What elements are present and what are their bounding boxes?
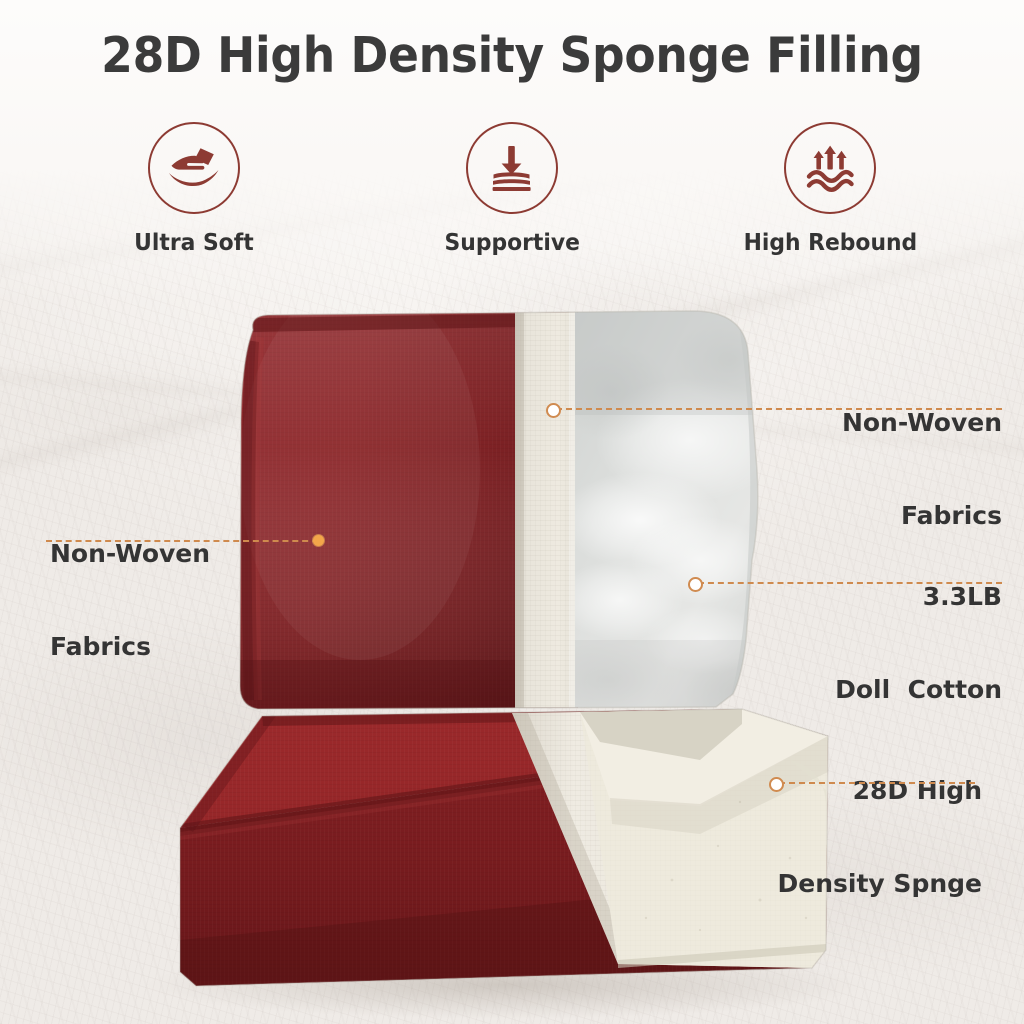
ultra-soft-badge bbox=[148, 122, 240, 214]
annotation-line: 28D High bbox=[652, 775, 982, 806]
annotation-line: Non-Woven bbox=[50, 538, 350, 569]
feature-ultra-soft: Ultra Soft bbox=[99, 122, 289, 267]
feature-high-rebound: High Rebound bbox=[735, 122, 925, 267]
page-title: 28D High Density Sponge Filling bbox=[36, 26, 988, 86]
annotation-line: Doll Cotton bbox=[682, 674, 1002, 705]
annotation-high-density-sponge: 28D High Density Spnge bbox=[652, 713, 982, 961]
feature-label: Supportive bbox=[444, 230, 579, 256]
hand-holding-feather-icon bbox=[164, 142, 224, 194]
annotation-line: 3.3LB bbox=[682, 581, 1002, 612]
annotation-line: Density Spnge bbox=[652, 868, 982, 899]
callout-dot-doll-cotton bbox=[688, 577, 703, 592]
feature-supportive: Supportive bbox=[417, 122, 607, 267]
leader-line-high-density-sponge bbox=[779, 782, 975, 784]
callout-dot-high-density-sponge bbox=[769, 777, 784, 792]
supportive-badge bbox=[466, 122, 558, 214]
callout-dot-non-woven-left bbox=[313, 535, 324, 546]
callout-dot-non-woven-right bbox=[546, 403, 561, 418]
leader-line-doll-cotton bbox=[698, 582, 1002, 584]
arrows-up-over-waves-icon bbox=[801, 142, 859, 194]
annotation-line: Non-Woven bbox=[702, 407, 1002, 438]
feature-label: High Rebound bbox=[743, 230, 917, 256]
leader-line-non-woven-right bbox=[556, 408, 1002, 410]
annotation-line: Fabrics bbox=[50, 631, 350, 662]
high-rebound-badge bbox=[784, 122, 876, 214]
annotation-non-woven-fabrics-left: Non-Woven Fabrics bbox=[50, 476, 350, 724]
feature-badges: Ultra Soft Supportive bbox=[0, 122, 1024, 267]
arrow-down-onto-layers-icon bbox=[483, 142, 541, 194]
feature-label: Ultra Soft bbox=[134, 230, 254, 256]
infographic-canvas: 28D High Density Sponge Filling Ultra So… bbox=[0, 0, 1024, 1024]
leader-line-non-woven-left bbox=[46, 540, 318, 542]
